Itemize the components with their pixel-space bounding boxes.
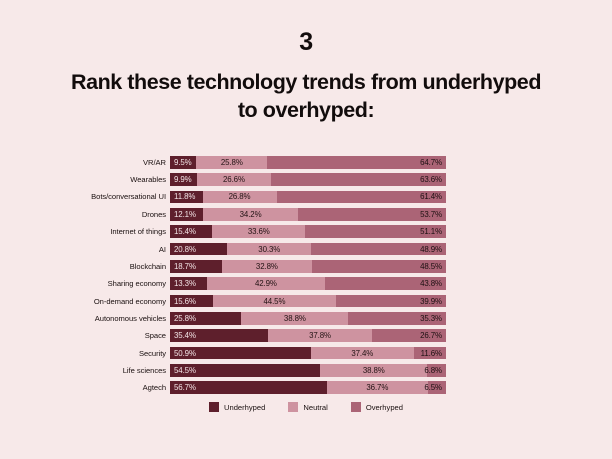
bar-segment-neutral: 25.8% bbox=[196, 156, 267, 169]
page-title: Rank these technology trends from underh… bbox=[66, 68, 546, 125]
bar-segment-value: 6.8% bbox=[424, 366, 446, 375]
bar-segment-overhyped: 43.8% bbox=[325, 277, 446, 290]
bar-segment-value: 35.3% bbox=[420, 314, 446, 323]
chart-row-label: Bots/conversational UI bbox=[0, 192, 170, 201]
bar-segment-value: 34.2% bbox=[240, 210, 262, 219]
bar-segment-overhyped: 61.4% bbox=[277, 191, 446, 204]
bar-segment-value: 11.6% bbox=[421, 349, 446, 358]
chart-row: Agtech56.7%36.7%6.5% bbox=[0, 381, 612, 394]
legend-swatch-icon bbox=[351, 402, 361, 412]
chart-row-bars: 54.5%38.8%6.8% bbox=[170, 364, 446, 377]
bar-segment-neutral: 26.6% bbox=[197, 173, 270, 186]
bar-segment-value: 26.6% bbox=[223, 175, 245, 184]
legend-item[interactable]: Overhyped bbox=[351, 402, 403, 412]
bar-segment-overhyped: 48.5% bbox=[312, 260, 446, 273]
chart-row-label: Blockchain bbox=[0, 262, 170, 271]
chart-row-bars: 35.4%37.8%26.7% bbox=[170, 329, 446, 342]
slide-header: 3 Rank these technology trends from unde… bbox=[0, 0, 612, 125]
bar-segment-value: 50.9% bbox=[170, 349, 196, 358]
bar-segment-overhyped: 26.7% bbox=[372, 329, 446, 342]
chart-rows: VR/AR9.5%25.8%64.7%Wearables9.9%26.6%63.… bbox=[0, 156, 612, 394]
bar-segment-value: 26.8% bbox=[229, 192, 251, 201]
bar-segment-neutral: 37.8% bbox=[268, 329, 372, 342]
bar-segment-underhyped: 56.7% bbox=[170, 381, 327, 394]
bar-segment-value: 15.4% bbox=[170, 227, 196, 236]
bar-segment-value: 32.8% bbox=[256, 262, 278, 271]
chart-row-bars: 25.8%38.8%35.3% bbox=[170, 312, 446, 325]
bar-segment-neutral: 42.9% bbox=[207, 277, 325, 290]
bar-segment-neutral: 34.2% bbox=[203, 208, 297, 221]
chart-row-bars: 12.1%34.2%53.7% bbox=[170, 208, 446, 221]
bar-segment-neutral: 38.8% bbox=[241, 312, 348, 325]
bar-segment-value: 6.5% bbox=[424, 383, 446, 392]
chart-row-label: Life sciences bbox=[0, 366, 170, 375]
chart-row-bars: 18.7%32.8%48.5% bbox=[170, 260, 446, 273]
legend-swatch-icon bbox=[288, 402, 298, 412]
bar-segment-value: 63.6% bbox=[420, 175, 446, 184]
bar-segment-overhyped: 6.8% bbox=[427, 364, 446, 377]
bar-segment-neutral: 32.8% bbox=[222, 260, 313, 273]
bar-segment-overhyped: 51.1% bbox=[305, 225, 446, 238]
bar-segment-value: 53.7% bbox=[420, 210, 446, 219]
bar-segment-value: 44.5% bbox=[264, 297, 286, 306]
chart-row: Life sciences54.5%38.8%6.8% bbox=[0, 364, 612, 377]
chart-row-bars: 9.5%25.8%64.7% bbox=[170, 156, 446, 169]
chart-row-label: Space bbox=[0, 331, 170, 340]
chart-row-label: Drones bbox=[0, 210, 170, 219]
bar-segment-neutral: 36.7% bbox=[327, 381, 428, 394]
bar-segment-overhyped: 53.7% bbox=[298, 208, 446, 221]
legend-item[interactable]: Neutral bbox=[288, 402, 327, 412]
chart-row-bars: 15.6%44.5%39.9% bbox=[170, 295, 446, 308]
legend-swatch-icon bbox=[209, 402, 219, 412]
chart-row: Blockchain18.7%32.8%48.5% bbox=[0, 260, 612, 273]
chart-row: Space35.4%37.8%26.7% bbox=[0, 329, 612, 342]
chart-legend: UnderhypedNeutralOverhyped bbox=[0, 402, 612, 412]
bar-segment-value: 12.1% bbox=[170, 210, 196, 219]
bar-segment-underhyped: 54.5% bbox=[170, 364, 320, 377]
bar-segment-overhyped: 64.7% bbox=[267, 156, 446, 169]
chart-row-bars: 13.3%42.9%43.8% bbox=[170, 277, 446, 290]
bar-segment-value: 30.3% bbox=[258, 245, 280, 254]
bar-segment-value: 25.8% bbox=[221, 158, 243, 167]
bar-segment-value: 20.8% bbox=[170, 245, 196, 254]
chart-row-label: Internet of things bbox=[0, 227, 170, 236]
chart-row: Security50.9%37.4%11.6% bbox=[0, 347, 612, 360]
bar-segment-value: 42.9% bbox=[255, 279, 277, 288]
chart-row-bars: 11.8%26.8%61.4% bbox=[170, 191, 446, 204]
chart-row: Bots/conversational UI11.8%26.8%61.4% bbox=[0, 191, 612, 204]
bar-segment-neutral: 38.8% bbox=[320, 364, 427, 377]
bar-segment-value: 38.8% bbox=[284, 314, 306, 323]
bar-segment-value: 13.3% bbox=[170, 279, 196, 288]
chart-row: AI20.8%30.3%48.9% bbox=[0, 243, 612, 256]
bar-segment-value: 37.4% bbox=[351, 349, 373, 358]
chart-row: VR/AR9.5%25.8%64.7% bbox=[0, 156, 612, 169]
bar-segment-value: 43.8% bbox=[420, 279, 446, 288]
chart-row-bars: 20.8%30.3%48.9% bbox=[170, 243, 446, 256]
bar-segment-underhyped: 11.8% bbox=[170, 191, 203, 204]
legend-label: Neutral bbox=[303, 403, 327, 412]
bar-segment-underhyped: 12.1% bbox=[170, 208, 203, 221]
bar-segment-value: 51.1% bbox=[420, 227, 446, 236]
legend-label: Overhyped bbox=[366, 403, 403, 412]
chart-row-label: Wearables bbox=[0, 175, 170, 184]
bar-segment-value: 25.8% bbox=[170, 314, 196, 323]
bar-segment-overhyped: 6.5% bbox=[428, 381, 446, 394]
bar-segment-underhyped: 50.9% bbox=[170, 347, 311, 360]
chart-row-label: Sharing economy bbox=[0, 279, 170, 288]
bar-segment-underhyped: 15.4% bbox=[170, 225, 212, 238]
chart-row-label: Security bbox=[0, 349, 170, 358]
bar-segment-underhyped: 25.8% bbox=[170, 312, 241, 325]
chart-row-label: Autonomous vehicles bbox=[0, 314, 170, 323]
bar-segment-neutral: 30.3% bbox=[227, 243, 311, 256]
bar-segment-neutral: 26.8% bbox=[203, 191, 277, 204]
legend-item[interactable]: Underhyped bbox=[209, 402, 265, 412]
bar-segment-overhyped: 11.6% bbox=[414, 347, 446, 360]
bar-segment-underhyped: 35.4% bbox=[170, 329, 268, 342]
bar-segment-underhyped: 13.3% bbox=[170, 277, 207, 290]
bar-segment-overhyped: 39.9% bbox=[336, 295, 446, 308]
chart-row-label: VR/AR bbox=[0, 158, 170, 167]
bar-segment-value: 36.7% bbox=[366, 383, 388, 392]
bar-segment-value: 48.9% bbox=[420, 245, 446, 254]
chart-row-bars: 15.4%33.6%51.1% bbox=[170, 225, 446, 238]
bar-segment-overhyped: 35.3% bbox=[348, 312, 446, 325]
bar-segment-value: 48.5% bbox=[420, 262, 446, 271]
bar-segment-value: 15.6% bbox=[170, 297, 196, 306]
stacked-bar-chart: VR/AR9.5%25.8%64.7%Wearables9.9%26.6%63.… bbox=[0, 156, 612, 404]
bar-segment-value: 56.7% bbox=[170, 383, 196, 392]
bar-segment-underhyped: 18.7% bbox=[170, 260, 222, 273]
bar-segment-underhyped: 15.6% bbox=[170, 295, 213, 308]
bar-segment-underhyped: 20.8% bbox=[170, 243, 227, 256]
bar-segment-value: 39.9% bbox=[420, 297, 446, 306]
bar-segment-value: 11.8% bbox=[170, 192, 195, 201]
bar-segment-underhyped: 9.9% bbox=[170, 173, 197, 186]
chart-row-bars: 9.9%26.6%63.6% bbox=[170, 173, 446, 186]
chart-row-label: AI bbox=[0, 245, 170, 254]
bar-segment-neutral: 37.4% bbox=[311, 347, 414, 360]
chart-row: On-demand economy15.6%44.5%39.9% bbox=[0, 295, 612, 308]
bar-segment-value: 9.9% bbox=[170, 175, 192, 184]
bar-segment-value: 9.5% bbox=[170, 158, 192, 167]
chart-row: Autonomous vehicles25.8%38.8%35.3% bbox=[0, 312, 612, 325]
slide-number: 3 bbox=[0, 30, 612, 55]
bar-segment-value: 18.7% bbox=[170, 262, 196, 271]
bar-segment-underhyped: 9.5% bbox=[170, 156, 196, 169]
chart-row-label: Agtech bbox=[0, 383, 170, 392]
bar-segment-neutral: 44.5% bbox=[213, 295, 336, 308]
bar-segment-value: 33.6% bbox=[248, 227, 270, 236]
bar-segment-value: 38.8% bbox=[363, 366, 385, 375]
bar-segment-value: 26.7% bbox=[420, 331, 446, 340]
legend-label: Underhyped bbox=[224, 403, 265, 412]
bar-segment-value: 61.4% bbox=[420, 192, 446, 201]
bar-segment-overhyped: 48.9% bbox=[311, 243, 446, 256]
bar-segment-value: 35.4% bbox=[170, 331, 196, 340]
bar-segment-value: 54.5% bbox=[170, 366, 196, 375]
chart-row-label: On-demand economy bbox=[0, 297, 170, 306]
bar-segment-value: 37.8% bbox=[309, 331, 331, 340]
chart-row: Drones12.1%34.2%53.7% bbox=[0, 208, 612, 221]
chart-row-bars: 50.9%37.4%11.6% bbox=[170, 347, 446, 360]
bar-segment-overhyped: 63.6% bbox=[271, 173, 446, 186]
chart-row-bars: 56.7%36.7%6.5% bbox=[170, 381, 446, 394]
chart-row: Internet of things15.4%33.6%51.1% bbox=[0, 225, 612, 238]
bar-segment-neutral: 33.6% bbox=[212, 225, 305, 238]
chart-row: Sharing economy13.3%42.9%43.8% bbox=[0, 277, 612, 290]
chart-row: Wearables9.9%26.6%63.6% bbox=[0, 173, 612, 186]
bar-segment-value: 64.7% bbox=[420, 158, 446, 167]
